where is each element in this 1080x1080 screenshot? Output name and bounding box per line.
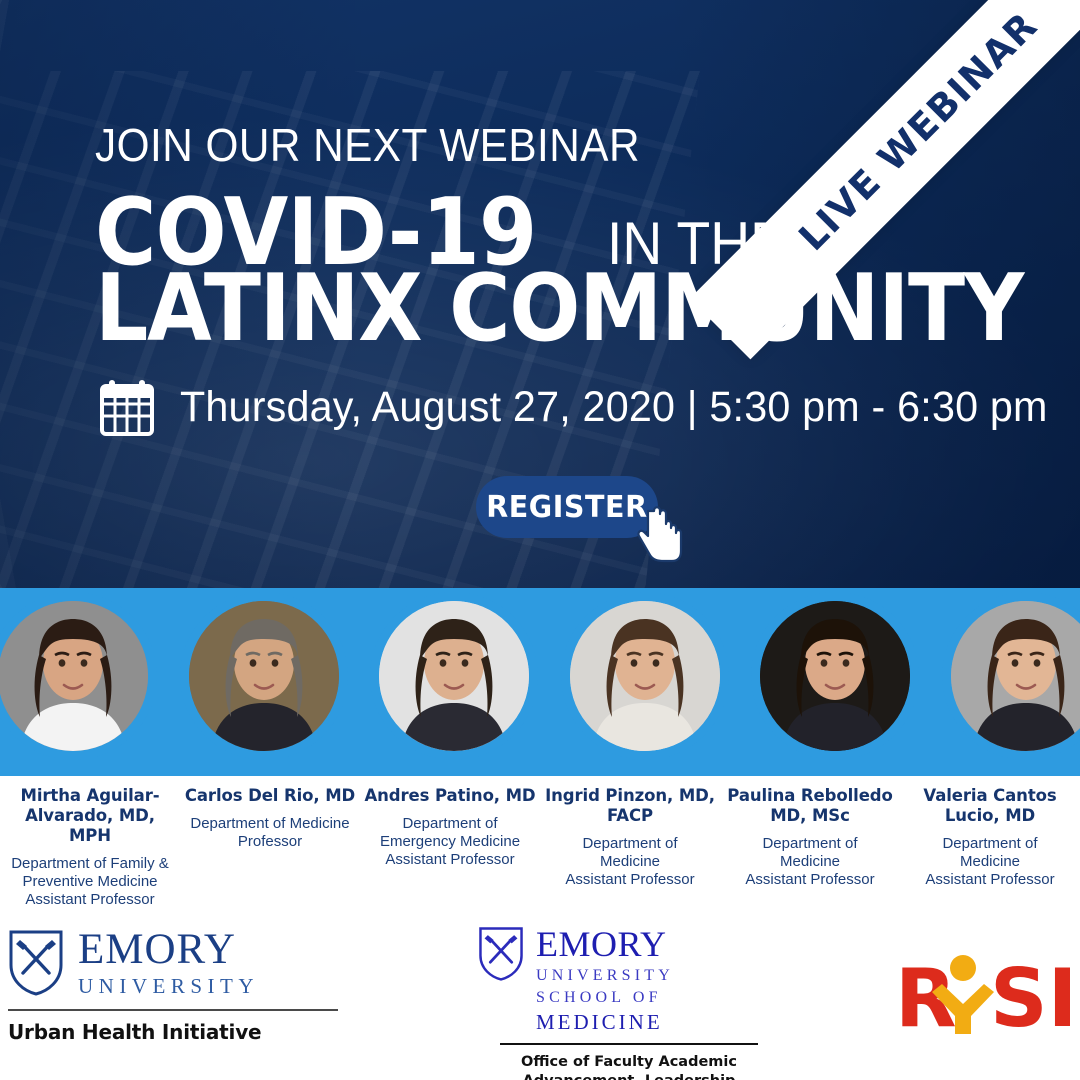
ryse-figure-head <box>950 955 976 981</box>
kicker-text: JOIN OUR NEXT WEBINAR <box>95 118 640 172</box>
emory-logo-divider <box>8 1009 338 1011</box>
emory-shield-torches-icon <box>8 929 64 997</box>
speaker-credit: Carlos Del Rio, MDDepartment of Medicine… <box>180 786 360 906</box>
emory-wordmark: EMORY <box>78 928 259 971</box>
som-logo-divider <box>500 1043 758 1045</box>
speaker-photo-valeria-cantos-lucio <box>951 601 1080 751</box>
speaker-name: Ingrid Pinzon, MD, FACP <box>544 786 716 826</box>
speaker-name: Carlos Del Rio, MD <box>184 786 356 806</box>
speaker-photo-carlos-del-rio <box>189 601 339 751</box>
speaker-name: Andres Patino, MD <box>364 786 536 806</box>
speaker-name: Paulina Rebolledo MD, MSc <box>724 786 896 826</box>
speaker-department: Department of Medicine Assistant Profess… <box>724 835 896 889</box>
speaker-credit: Ingrid Pinzon, MD, FACPDepartment of Med… <box>540 786 720 906</box>
speaker-department: Department of Medicine Professor <box>184 815 356 851</box>
date-text: Thursday, August 27, 2020 | 5:30 pm - 6:… <box>180 383 1048 432</box>
som-line-university: UNIVERSITY <box>536 968 674 984</box>
register-button[interactable]: REGISTER <box>476 476 658 538</box>
speaker-department: Department of Medicine Assistant Profess… <box>544 835 716 889</box>
speaker-photo-paulina-rebolledo <box>760 601 910 751</box>
som-line-school-of: SCHOOL OF <box>536 990 674 1006</box>
speaker-photo-mirtha-aguilar-alvarado <box>0 601 148 751</box>
speaker-credit: Paulina Rebolledo MD, MScDepartment of M… <box>720 786 900 906</box>
speaker-department: Department of Family & Preventive Medici… <box>4 855 176 909</box>
ryse-logo: R SE <box>895 948 1070 1045</box>
speaker-photo-ingrid-pinzon <box>570 601 720 751</box>
speaker-department: Department of Medicine Assistant Profess… <box>904 835 1076 889</box>
som-line-medicine: MEDICINE <box>536 1012 674 1033</box>
speaker-name: Mirtha Aguilar-Alvarado, MD, MPH <box>4 786 176 846</box>
emory-school-of-medicine-logo: EMORY UNIVERSITY SCHOOL OF MEDICINE Offi… <box>478 926 778 1080</box>
speaker-photo-andres-patino <box>379 601 529 751</box>
emory-subwordmark: UNIVERSITY <box>78 976 259 997</box>
dateline: Thursday, August 27, 2020 | 5:30 pm - 6:… <box>100 378 1080 436</box>
ryse-letters-se: SE <box>990 952 1070 1040</box>
speaker-department: Department of Emergency Medicine Assista… <box>364 815 536 869</box>
speaker-credit: Mirtha Aguilar-Alvarado, MD, MPHDepartme… <box>0 786 180 906</box>
speaker-credits-list: Mirtha Aguilar-Alvarado, MD, MPHDepartme… <box>0 786 1080 906</box>
speaker-name: Valeria Cantos Lucio, MD <box>904 786 1076 826</box>
logo-row: EMORY UNIVERSITY Urban Health Initiative <box>0 912 1080 1080</box>
emory-unit-name: Urban Health Initiative <box>8 1020 338 1044</box>
speaker-credit: Andres Patino, MDDepartment of Emergency… <box>360 786 540 906</box>
emory-university-logo: EMORY UNIVERSITY Urban Health Initiative <box>8 928 338 1044</box>
som-wordmark: EMORY <box>536 926 674 962</box>
webinar-poster: LIVE WEBINAR JOIN OUR NEXT WEBINAR COVID… <box>0 0 1080 1080</box>
calendar-icon <box>100 378 154 436</box>
register-button-label: REGISTER <box>486 490 647 525</box>
emory-shield-torches-icon <box>478 926 524 982</box>
speaker-credit: Valeria Cantos Lucio, MDDepartment of Me… <box>900 786 1080 906</box>
ryse-wordmark-icon: R SE <box>895 948 1070 1040</box>
title-line-two: LATINX COMMUNITY <box>95 262 1023 355</box>
som-unit-name: Office of Faculty Academic Advancement, … <box>488 1053 770 1080</box>
pointing-hand-cursor-icon <box>634 505 686 563</box>
